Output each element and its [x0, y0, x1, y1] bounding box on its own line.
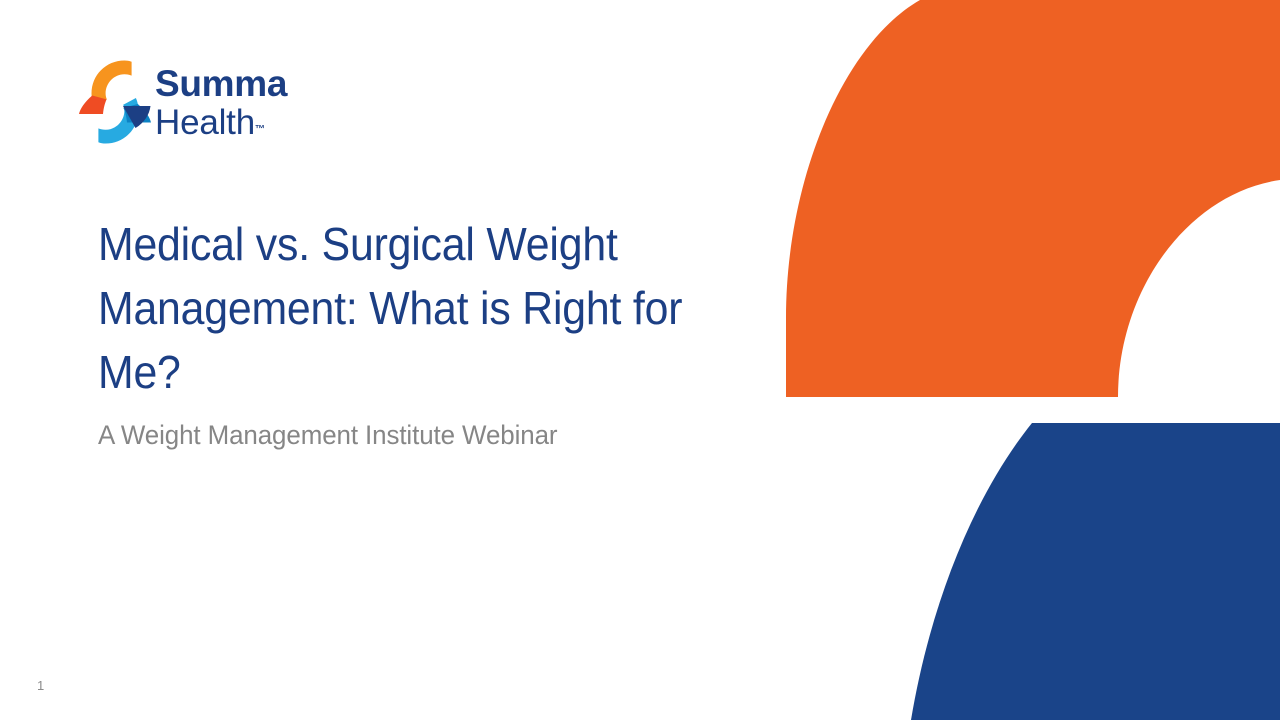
slide-canvas: Summa Health™ Medical vs. Surgical Weigh…	[0, 0, 1280, 720]
logo-wordmark-health: Health	[155, 103, 255, 142]
page-number: 1	[37, 678, 44, 694]
logo-wordmark-summa: Summa	[155, 65, 287, 102]
blue-curved-wedge-shape	[911, 423, 1280, 720]
title-block: Medical vs. Surgical Weight Management: …	[98, 212, 738, 452]
logo-wordmark: Summa Health™	[155, 65, 287, 140]
summa-pinwheel-mark-icon	[78, 58, 152, 146]
summa-health-logo: Summa Health™	[78, 57, 293, 147]
page-title: Medical vs. Surgical Weight Management: …	[98, 212, 693, 404]
orange-quarter-arc-shape	[786, 0, 1280, 397]
logo-wordmark-health-row: Health™	[155, 105, 287, 140]
trademark-symbol: ™	[255, 124, 265, 135]
page-subtitle: A Weight Management Institute Webinar	[98, 404, 712, 452]
